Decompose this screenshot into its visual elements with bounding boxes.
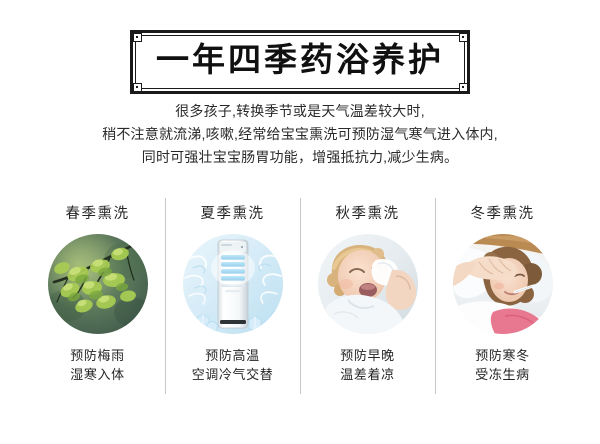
season-caption-summer: 预防高温 空调冷气交替 [192,346,274,384]
season-caption-spring-line-2: 湿寒入体 [70,365,124,384]
season-caption-summer-line-2: 空调冷气交替 [192,365,274,384]
winter-sick-child-in-bed-photo [453,234,553,334]
season-caption-autumn-line-2: 温差着凉 [340,365,394,384]
season-columns: 春季熏洗 [30,194,570,399]
season-caption-spring-line-1: 预防梅雨 [70,346,124,365]
summer-air-conditioner-photo [183,234,283,334]
season-caption-winter-line-1: 预防寒冬 [475,346,529,365]
intro-line-1: 很多孩子,转换季节或是天气温差较大时, [0,100,600,123]
season-column-winter: 冬季熏洗 [435,194,570,399]
spring-green-leaves-photo [48,234,148,334]
page-title: 一年四季药浴养护 [130,30,470,94]
season-caption-autumn: 预防早晚 温差着凉 [340,346,394,384]
season-heading-autumn: 秋季熏洗 [336,202,400,223]
autumn-sneezing-child-photo [318,234,418,334]
season-caption-summer-line-1: 预防高温 [192,346,274,365]
season-caption-winter-line-2: 受冻生病 [475,365,529,384]
season-heading-winter: 冬季熏洗 [471,202,535,223]
season-column-summer: 夏季熏洗 [165,194,300,399]
intro-paragraph: 很多孩子,转换季节或是天气温差较大时, 稍不注意就流涕,咳嗽,经常给宝宝熏洗可预… [0,100,600,169]
season-caption-winter: 预防寒冬 受冻生病 [475,346,529,384]
season-caption-spring: 预防梅雨 湿寒入体 [70,346,124,384]
season-caption-autumn-line-1: 预防早晚 [340,346,394,365]
title-banner: 一年四季药浴养护 [130,30,470,94]
season-heading-summer: 夏季熏洗 [201,202,265,223]
intro-line-2: 稍不注意就流涕,咳嗽,经常给宝宝熏洗可预防湿气寒气进入体内, [0,123,600,146]
season-column-autumn: 秋季熏洗 [300,194,435,399]
season-heading-spring: 春季熏洗 [66,202,130,223]
season-column-spring: 春季熏洗 [30,194,165,399]
intro-line-3: 同时可强壮宝宝肠胃功能，增强抵抗力,减少生病。 [0,146,600,169]
